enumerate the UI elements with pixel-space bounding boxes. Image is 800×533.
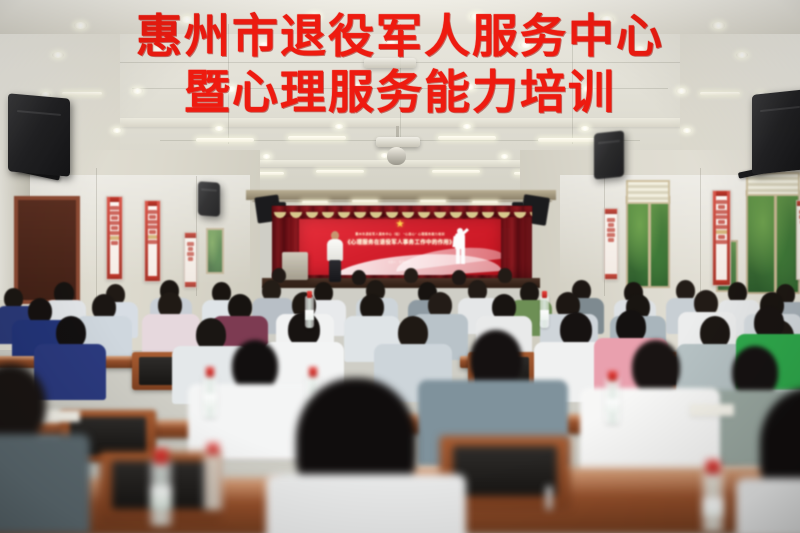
- scroll-glyph: [149, 215, 155, 219]
- scroll-glyph: [716, 240, 726, 244]
- saluting-soldier-silhouette: [449, 228, 473, 266]
- scroll-glyph: [718, 235, 725, 239]
- downlight: [112, 128, 122, 133]
- scroll-glyph: [148, 220, 157, 224]
- strip-light: [288, 136, 346, 140]
- torso: [34, 344, 106, 400]
- scroll-glyph: [110, 206, 119, 210]
- bottle-cap: [206, 367, 215, 377]
- speaker-vent: [201, 188, 217, 191]
- scroll-glyph: [607, 233, 614, 237]
- strip-light: [538, 138, 596, 142]
- scroll-calligraphy: [107, 204, 122, 272]
- scroll-glyph: [110, 221, 119, 225]
- bottle-label: [605, 399, 620, 413]
- presenter-shirt: [327, 239, 343, 261]
- downlight: [580, 126, 590, 131]
- bottle-cap: [307, 291, 313, 298]
- scroll-cap-top: [185, 233, 196, 238]
- ceiling-projector: [376, 137, 420, 147]
- wall-seam: [96, 168, 97, 298]
- torso: [266, 474, 466, 533]
- strip-light: [438, 136, 496, 140]
- downlight: [712, 22, 725, 29]
- downlight: [352, 84, 363, 90]
- downlight: [334, 124, 344, 129]
- ceiling-grid: [228, 24, 229, 144]
- downlight: [385, 40, 397, 46]
- downlight: [226, 86, 237, 92]
- scroll-glyph: [716, 200, 726, 204]
- scroll-glyph: [187, 252, 194, 256]
- document-paper[interactable]: [40, 410, 80, 422]
- bottle-cap: [309, 367, 318, 377]
- scroll-glyph: [187, 242, 194, 246]
- window-mullion: [774, 192, 777, 292]
- star-emblem: ★: [396, 220, 405, 230]
- stage-light: [302, 201, 328, 204]
- scroll-glyph: [110, 211, 119, 215]
- calligraphy-scroll: [604, 208, 618, 280]
- scroll-glyph: [110, 231, 119, 235]
- bottle-cap: [706, 460, 720, 474]
- ceiling-camera: [387, 147, 406, 165]
- calligraphy-scroll: [184, 232, 197, 288]
- curtain-valance: [272, 206, 532, 217]
- bottle-label: [305, 310, 314, 320]
- scroll-glyph: [716, 215, 726, 219]
- scroll-glyph: [718, 205, 725, 209]
- head: [632, 340, 680, 394]
- bottle-cap: [542, 291, 548, 298]
- pen[interactable]: [546, 486, 552, 510]
- downlight: [132, 88, 143, 94]
- scroll-cap-bottom: [605, 274, 617, 279]
- scroll-glyph: [607, 218, 614, 222]
- scroll-glyph: [148, 210, 157, 214]
- scroll-glyph: [716, 225, 726, 229]
- scroll-glyph: [111, 226, 117, 230]
- bottle-label: [150, 486, 172, 508]
- scroll-glyph: [716, 230, 726, 234]
- torso: [580, 388, 720, 472]
- pa-speaker: [198, 181, 220, 217]
- document-paper[interactable]: [690, 404, 734, 416]
- scroll-cap-top: [605, 209, 617, 214]
- scroll-glyph: [149, 230, 155, 234]
- scroll-calligraphy: [713, 198, 730, 278]
- head: [404, 268, 418, 283]
- downlight: [214, 126, 224, 131]
- pa-speaker: [8, 93, 70, 176]
- presenter-trousers: [329, 260, 341, 282]
- wall-seam: [700, 168, 701, 298]
- head: [452, 270, 466, 285]
- downlight: [464, 84, 475, 90]
- water-bottle[interactable]: [702, 470, 724, 532]
- ceiling-projector-far: [364, 58, 416, 68]
- water-bottle[interactable]: [605, 378, 620, 424]
- scroll-glyph: [148, 235, 157, 239]
- bottle-label: [203, 394, 217, 407]
- downlight: [470, 13, 483, 20]
- window-mullion: [648, 198, 651, 286]
- presenter: [326, 231, 344, 281]
- stage-light: [472, 201, 498, 204]
- window-foliage: [748, 192, 798, 292]
- downlight: [180, 16, 194, 23]
- scroll-glyph: [188, 257, 193, 261]
- scroll-calligraphy: [185, 240, 196, 280]
- water-bottle[interactable]: [203, 374, 217, 418]
- downlight: [462, 124, 472, 129]
- head: [498, 268, 512, 283]
- scroll-glyph: [148, 225, 157, 229]
- bottle-label: [702, 498, 724, 517]
- stage-light: [352, 200, 378, 203]
- stage-proscenium: [246, 190, 556, 200]
- speaker-vent: [17, 110, 62, 116]
- water-bottle[interactable]: [540, 296, 549, 328]
- chair-backrest: [453, 446, 557, 496]
- stage-light: [420, 200, 446, 203]
- window: [746, 190, 800, 294]
- downlight: [152, 46, 164, 52]
- window: [206, 228, 224, 274]
- scroll-glyph: [148, 240, 157, 244]
- scroll-glyph: [111, 241, 117, 245]
- scroll-glyph: [608, 223, 613, 227]
- bottle-cap: [608, 371, 618, 381]
- soldier-leg: [456, 248, 460, 264]
- speaker-vent: [598, 140, 620, 144]
- downlight: [258, 42, 270, 48]
- scroll-glyph: [188, 247, 193, 251]
- downlight: [682, 128, 692, 133]
- strip-light: [700, 92, 740, 95]
- water-bottle[interactable]: [150, 460, 172, 526]
- water-bottle[interactable]: [203, 452, 223, 510]
- speaker-vent: [760, 106, 800, 112]
- scroll-glyph: [608, 238, 613, 242]
- ceiling-grid: [400, 24, 401, 154]
- bottle-label: [540, 310, 549, 320]
- pa-speaker: [594, 130, 624, 179]
- scroll-glyph: [111, 216, 117, 220]
- scroll-calligraphy: [145, 208, 160, 274]
- downlight: [600, 16, 614, 23]
- bottle-cap: [207, 443, 220, 456]
- calligraphy-scroll: [712, 190, 731, 286]
- window: [626, 196, 670, 288]
- ceiling-grid: [572, 24, 573, 144]
- scroll-calligraphy: [605, 216, 617, 272]
- soldier-leg: [461, 248, 465, 264]
- torso: [736, 478, 800, 533]
- window-blinds: [626, 180, 670, 204]
- scroll-cap-bottom: [185, 282, 196, 287]
- strip-light: [62, 92, 102, 95]
- downlight: [520, 42, 532, 48]
- calligraphy-scroll: [144, 200, 161, 282]
- downlight: [634, 46, 646, 52]
- strip-light: [196, 138, 254, 142]
- downlight: [736, 52, 748, 58]
- torso: [0, 434, 90, 533]
- water-bottle[interactable]: [305, 296, 314, 328]
- downlight: [676, 88, 687, 94]
- downlight: [582, 86, 593, 92]
- conference-photo: ★ 惠州市退役军人服务中心（站） “心连心” 心理服务能力培训 《心理服务在退役…: [0, 0, 800, 533]
- scroll-glyph: [110, 236, 119, 240]
- downlight: [500, 154, 509, 159]
- downlight: [308, 13, 321, 20]
- strip-light: [316, 170, 364, 173]
- window-foliage: [208, 230, 222, 272]
- scroll-glyph: [718, 220, 725, 224]
- head: [352, 270, 366, 285]
- downlight: [74, 22, 87, 29]
- downlight: [262, 154, 271, 159]
- downlight: [52, 52, 64, 58]
- pa-speaker: [752, 89, 800, 175]
- window-blinds: [746, 172, 800, 196]
- strip-light: [432, 170, 480, 173]
- scroll-glyph: [607, 228, 614, 232]
- calligraphy-scroll: [796, 200, 800, 280]
- bottle-cap: [154, 449, 168, 464]
- lighting-truss: [252, 200, 552, 202]
- scroll-glyph: [716, 210, 726, 214]
- calligraphy-scroll: [106, 196, 123, 280]
